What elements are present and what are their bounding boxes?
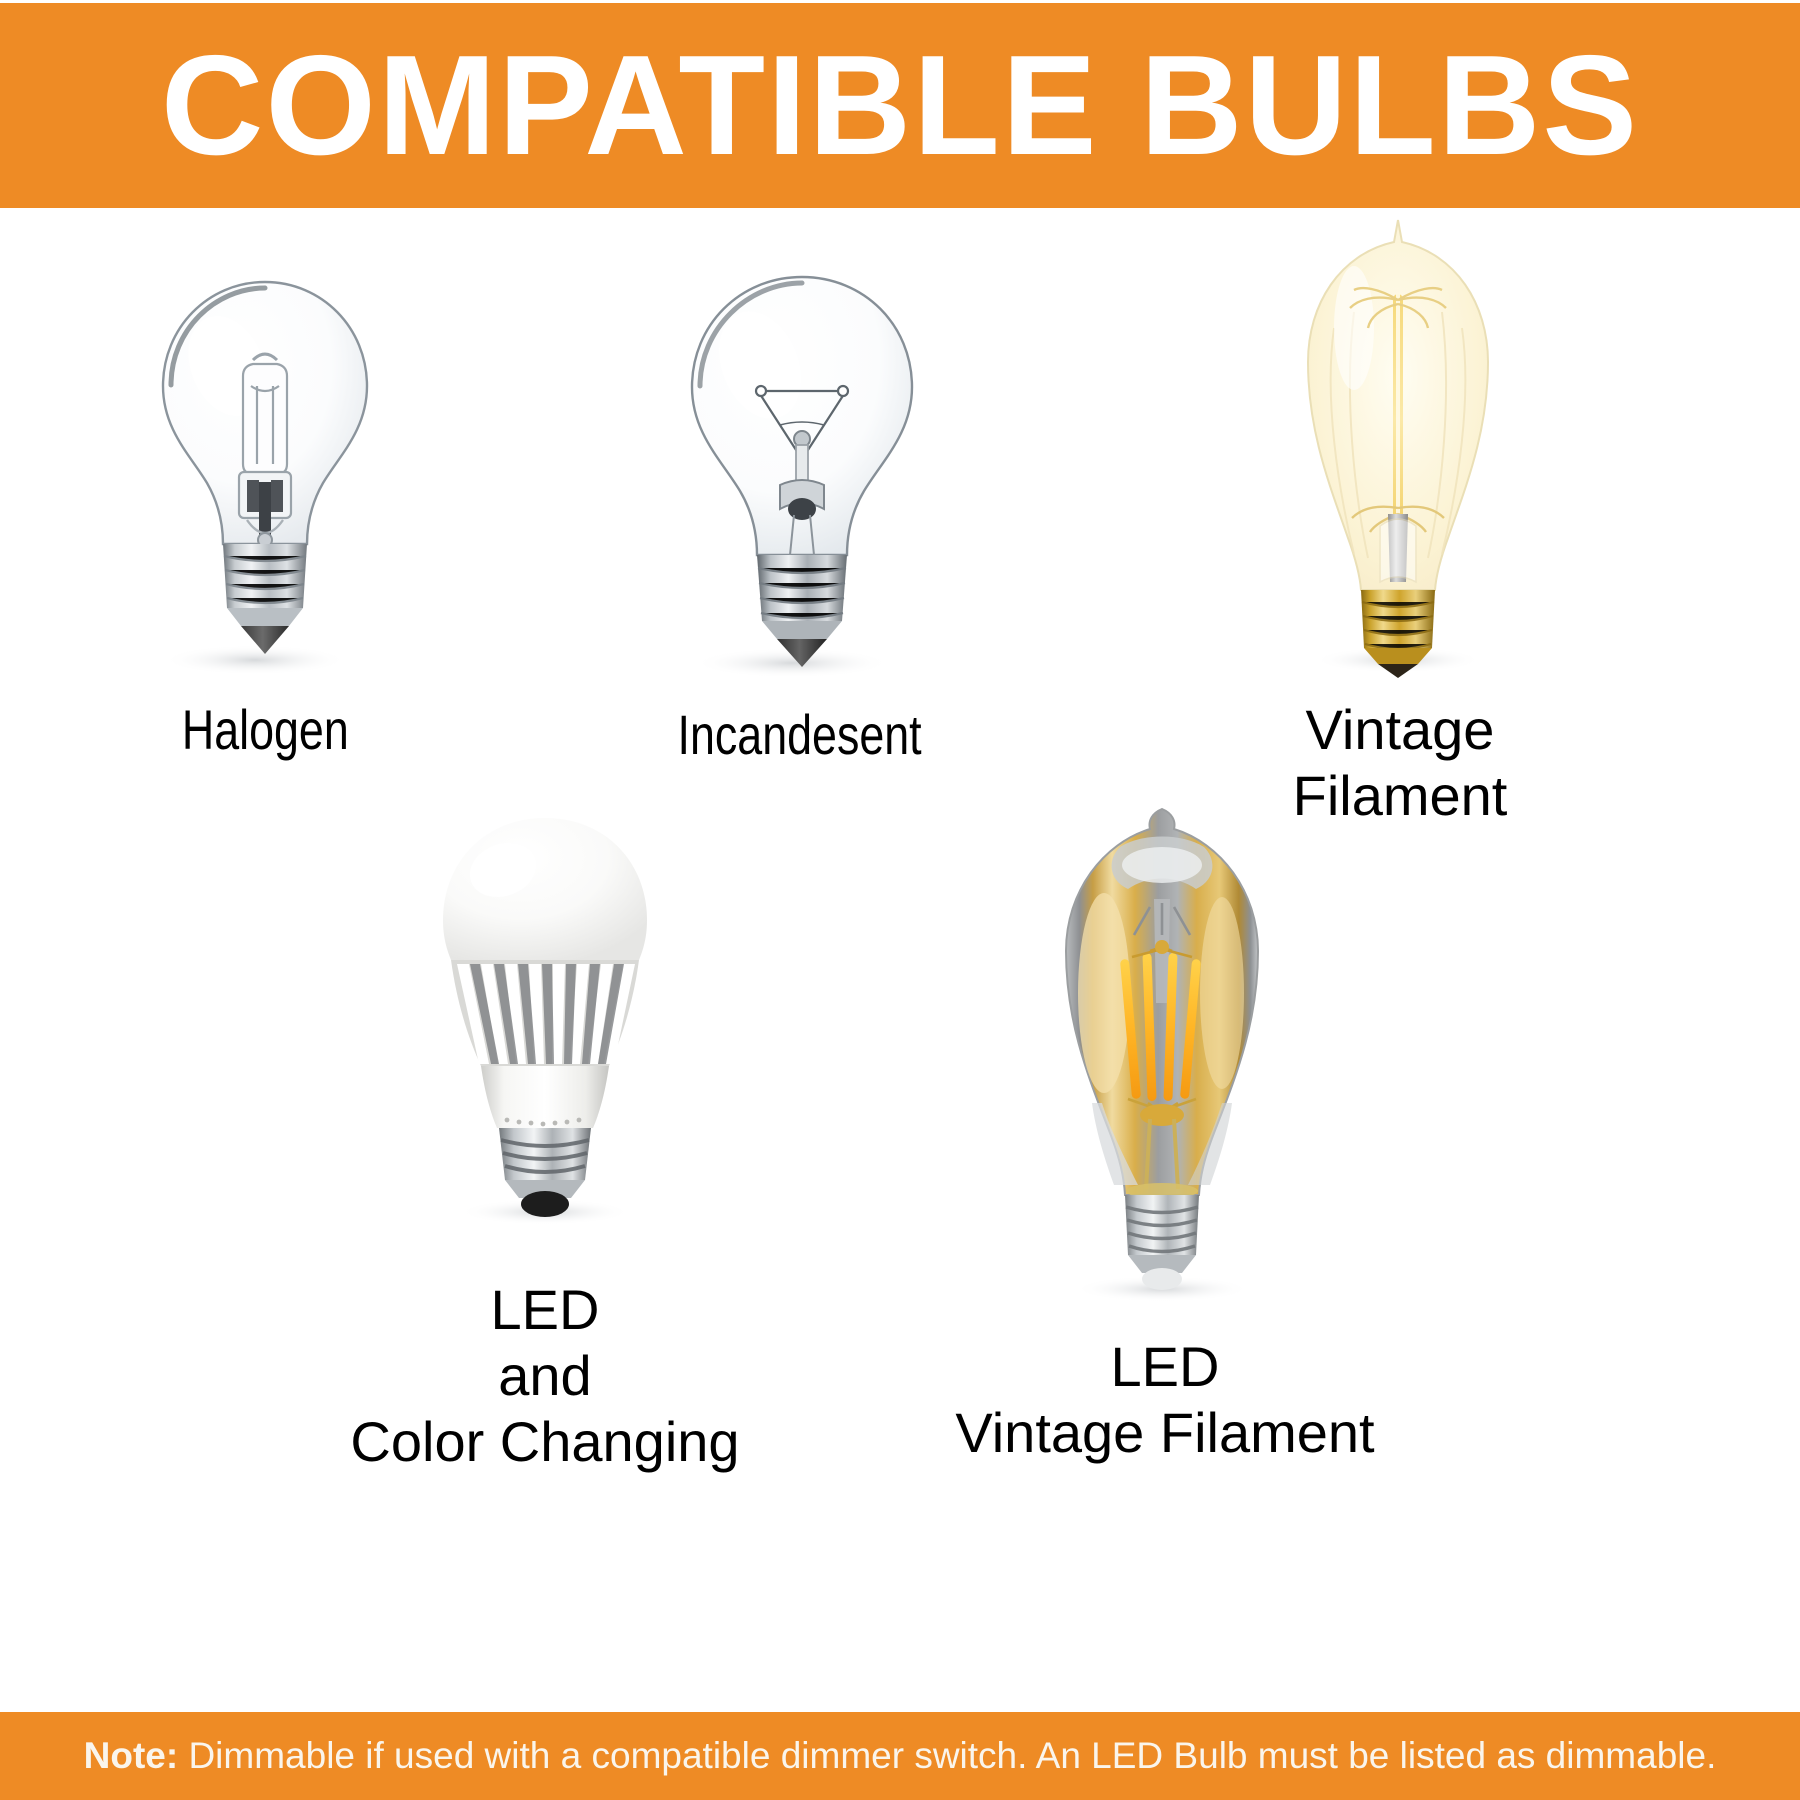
bulb-card-led[interactable]: LED and Color Changing bbox=[285, 808, 805, 1475]
bulb-grid: Halogen bbox=[0, 208, 1800, 1712]
footer-note-text: Dimmable if used with a compatible dimme… bbox=[178, 1735, 1716, 1776]
led-bulb-icon bbox=[395, 808, 695, 1233]
footer-banner: Note: Dimmable if used with a compatible… bbox=[0, 1712, 1800, 1800]
header-banner: COMPATIBLE BULBS bbox=[0, 3, 1800, 208]
led-vintage-filament-bulb-icon bbox=[1000, 803, 1330, 1308]
bulb-card-incandescent[interactable]: Incandesent bbox=[570, 263, 1030, 768]
incandescent-bulb-icon bbox=[660, 263, 940, 688]
bulb-label-led-vintage-filament: LED Vintage Filament bbox=[955, 1334, 1374, 1466]
footer-note: Note: Dimmable if used with a compatible… bbox=[84, 1735, 1717, 1777]
footer-note-prefix: Note: bbox=[84, 1735, 179, 1776]
halogen-bulb-icon bbox=[135, 268, 395, 683]
bulb-card-halogen[interactable]: Halogen bbox=[55, 268, 475, 763]
bulb-card-vintage-filament[interactable]: Vintage Filament bbox=[1150, 208, 1650, 829]
bulb-label-incandescent: Incandesent bbox=[678, 702, 922, 768]
bulb-card-led-vintage-filament[interactable]: LED Vintage Filament bbox=[855, 803, 1475, 1466]
bulb-label-halogen: Halogen bbox=[182, 697, 349, 763]
vintage-filament-bulb-icon bbox=[1250, 208, 1550, 683]
page-title: COMPATIBLE BULBS bbox=[161, 35, 1639, 177]
bulb-label-led: LED and Color Changing bbox=[350, 1277, 739, 1475]
